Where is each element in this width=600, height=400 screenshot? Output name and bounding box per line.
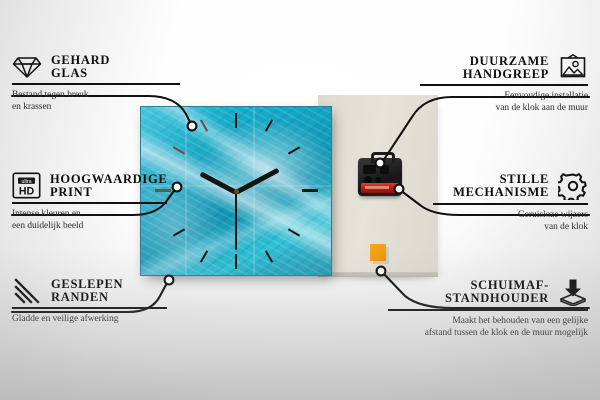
feature-title: STILLE MECHANISME [453,173,549,199]
product-image [126,96,436,292]
battery-terminal [397,185,401,191]
hour-tick [235,113,237,128]
feature-title: GESLEPEN RANDEN [51,278,123,304]
title-line: DUURZAME [463,55,549,68]
hour-tick [302,189,318,192]
mechanism-slot [363,165,376,174]
foam-spacer [370,244,386,261]
infographic-canvas: GEHARD GLAS Bestand tegen breuk en krass… [0,0,600,400]
feature-title: SCHUIMAF- STANDHOUDER [445,279,549,305]
feature-gehard-glas: GEHARD GLAS Bestand tegen breuk en krass… [12,54,180,113]
title-line: STANDHOUDER [445,292,549,305]
hanging-bracket-icon [371,152,395,163]
feature-description: Geruisloze wijzers van de klok [433,209,588,233]
feature-title: DUURZAME HANDGREEP [463,55,549,81]
aa-battery [361,183,399,193]
title-line: HOOGWAARDIGE [50,173,167,186]
feature-hoogwaardige-print: ultra HD HOOGWAARDIGE PRINT Intense kleu… [12,172,167,232]
feature-description: Gladde en veilige afwerking [12,313,167,325]
feature-description: Maakt het behouden van een gelijke afsta… [388,315,588,339]
feature-duurzame-handgreep: DUURZAME HANDGREEP Eenvoudige installati… [420,54,588,114]
quartz-mechanism [358,158,402,196]
feature-underline [12,202,167,204]
feature-underline [12,307,167,309]
feature-geslepen-randen: GESLEPEN RANDEN Gladde en veilige afwerk… [12,278,167,325]
gear-icon [558,172,588,200]
hd-label: HD [19,185,35,197]
ultra-hd-badge-icon: ultra HD [12,172,41,199]
title-line: GLAS [51,67,110,80]
clock-hub [234,189,239,194]
feature-description: Intense kleuren en een duidelijk beeld [12,208,167,232]
clock-face [140,106,332,276]
press-down-pad-icon [558,278,588,306]
bevelled-edges-icon [12,278,42,304]
title-line: HANDGREEP [463,68,549,81]
title-line: PRINT [50,186,167,199]
feature-stille-mechanisme: STILLE MECHANISME Geruisloze wijzers van… [433,172,588,233]
mechanism-slot [380,165,389,174]
feature-underline [388,309,588,311]
picture-frame-hanger-icon [558,54,588,81]
second-hand [235,192,237,250]
battery-label [365,186,389,189]
feature-underline [12,83,180,85]
feature-underline [433,203,588,205]
ultra-label: ultra [21,179,31,185]
diamond-icon [12,54,42,80]
hour-tick [235,254,237,269]
feature-schuimafstandhouder: SCHUIMAF- STANDHOUDER Maakt het behouden… [388,278,588,339]
feature-description: Bestand tegen breuk en krassen [12,89,180,113]
title-line: MECHANISME [453,186,549,199]
feature-underline [420,84,588,86]
feature-description: Eenvoudige installatie van de klok aan d… [420,90,588,114]
feature-title: GEHARD GLAS [51,54,110,80]
title-line: RANDEN [51,291,123,304]
feature-title: HOOGWAARDIGE PRINT [50,173,167,199]
